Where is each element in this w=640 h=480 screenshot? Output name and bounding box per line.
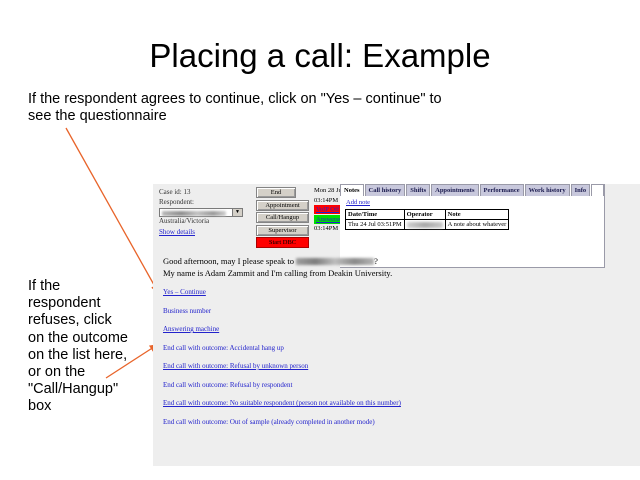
- outcome-out-of-sample[interactable]: End call with outcome: Out of sample (al…: [163, 418, 640, 426]
- caller-info-block: Case id: 13 Respondent: ▼ Australia/Vict…: [159, 188, 251, 237]
- voip-status-badge[interactable]: VoIP Off: [314, 205, 341, 214]
- chevron-down-icon[interactable]: ▼: [232, 209, 242, 216]
- start-dbc-button[interactable]: Start DBC: [256, 237, 309, 248]
- column-header-operator: Operator: [404, 210, 445, 220]
- end-button[interactable]: End: [256, 187, 296, 198]
- tab-appointments[interactable]: Appointments: [431, 184, 478, 196]
- outcome-refusal-respondent[interactable]: End call with outcome: Refusal by respon…: [163, 381, 640, 389]
- outcome-answering-machine[interactable]: Answering machine: [163, 325, 640, 333]
- tab-performance[interactable]: Performance: [480, 184, 524, 196]
- operator-redacted: [407, 222, 443, 228]
- callout-text-top: If the respondent agrees to continue, cl…: [28, 91, 458, 125]
- respondent-select[interactable]: ▼: [159, 208, 243, 217]
- outcome-link-list: Yes – Continue Business number Answering…: [163, 288, 640, 426]
- call-control-strip: Case id: 13 Respondent: ▼ Australia/Vict…: [153, 184, 640, 253]
- callout-text-left: If the respondent refuses, click on the …: [28, 278, 128, 416]
- tab-info[interactable]: Info: [571, 184, 591, 196]
- script-line-1-before: Good afternoon, may I please speak to: [163, 256, 296, 266]
- supervisor-button[interactable]: Supervisor: [256, 225, 309, 236]
- notes-table: Date/Time Operator Note Thu 24 Jul 03:51…: [345, 209, 509, 230]
- embedded-app-screenshot: Case id: 13 Respondent: ▼ Australia/Vict…: [153, 184, 640, 466]
- tab-call-history[interactable]: Call history: [365, 184, 406, 196]
- outcome-business-number[interactable]: Business number: [163, 307, 640, 315]
- appointment-button[interactable]: Appointment: [256, 200, 309, 211]
- script-line-2: My name is Adam Zammit and I'm calling f…: [163, 268, 640, 280]
- respondent-value-redacted: [162, 211, 226, 216]
- outcome-refusal-unknown-person[interactable]: End call with outcome: Refusal by unknow…: [163, 362, 640, 370]
- tab-work-history[interactable]: Work history: [525, 184, 570, 196]
- cell-note: A note about whatever: [445, 220, 509, 230]
- column-header-datetime: Date/Time: [346, 210, 405, 220]
- show-details-link[interactable]: Show details: [159, 228, 195, 238]
- table-row[interactable]: Thu 24 Jul 03:51PM A note about whatever: [346, 220, 509, 230]
- script-line-1-after: ?: [374, 256, 378, 266]
- outcome-no-suitable-respondent[interactable]: End call with outcome: No suitable respo…: [163, 399, 640, 407]
- timezone-label: Australia/Victoria: [159, 217, 251, 227]
- case-id-label: Case id: 13: [159, 188, 251, 198]
- script-line-1: Good afternoon, may I please speak to ?: [163, 256, 640, 268]
- table-header-row: Date/Time Operator Note: [346, 210, 509, 220]
- call-script-area: Good afternoon, may I please speak to ? …: [153, 256, 640, 436]
- tab-shifts[interactable]: Shifts: [406, 184, 430, 196]
- column-header-note: Note: [445, 210, 509, 220]
- respondent-name-redacted: [296, 258, 374, 265]
- tab-strip: Notes Call history Shifts Appointments P…: [340, 184, 604, 196]
- tab-notes[interactable]: Notes: [340, 184, 364, 196]
- call-action-buttons: End Appointment Call/Hangup Supervisor S…: [256, 187, 309, 250]
- add-note-link[interactable]: Add note: [346, 199, 370, 206]
- cell-datetime: Thu 24 Jul 03:51PM: [346, 220, 405, 230]
- cell-operator: [404, 220, 445, 230]
- call-hangup-button[interactable]: Call/Hangup: [256, 212, 309, 223]
- outcome-accidental-hang-up[interactable]: End call with outcome: Accidental hang u…: [163, 344, 640, 352]
- tab-strip-filler: [591, 184, 604, 196]
- page-title: Placing a call: Example: [0, 36, 640, 76]
- respondent-label: Respondent:: [159, 198, 251, 208]
- outcome-yes-continue[interactable]: Yes – Continue: [163, 288, 640, 296]
